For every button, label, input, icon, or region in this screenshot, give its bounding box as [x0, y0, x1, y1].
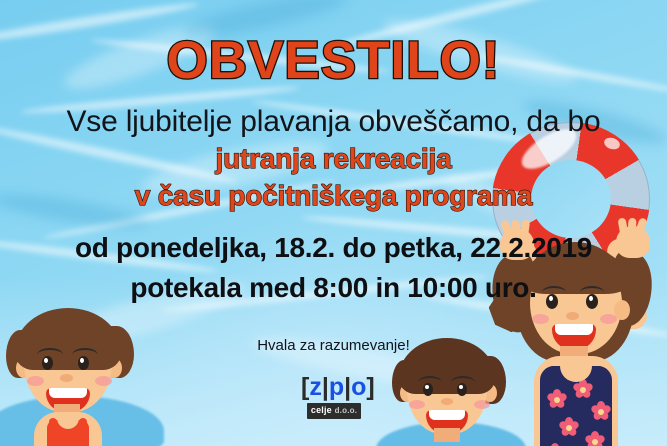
- zpo-celje-logo: [z|p|o] celje d.o.o.: [301, 374, 367, 418]
- logo-legal-form: d.o.o.: [335, 406, 358, 415]
- poster-title: OBVESTILO!: [0, 30, 667, 91]
- notice-line-1: Vse ljubitelje plavanja obveščamo, da bo: [0, 105, 667, 139]
- logo-bracket-close: ]: [366, 373, 374, 401]
- logo-mark: [z|p|o]: [301, 374, 367, 400]
- boy-swimmer-left: [0, 300, 154, 446]
- notice-date-range: od ponedeljka, 18.2. do petka, 22.2.2019: [0, 232, 667, 264]
- logo-letter-o: o: [351, 373, 366, 401]
- logo-pipe-1: |: [322, 373, 329, 401]
- notice-line-3: v času počitniškega programa: [0, 180, 667, 212]
- notice-poster: OBVESTILO! Vse ljubitelje plavanja obveš…: [0, 0, 667, 446]
- logo-letter-p: p: [329, 373, 344, 401]
- logo-letter-z: z: [309, 373, 322, 401]
- thanks-note: Hvala za razumevanje!: [0, 337, 667, 354]
- logo-company-name: celje: [311, 405, 332, 415]
- notice-time-range: potekala med 8:00 in 10:00 uro.: [0, 272, 667, 304]
- notice-line-2: jutranja rekreacija: [0, 143, 667, 175]
- logo-company-bar: celje d.o.o.: [307, 403, 361, 419]
